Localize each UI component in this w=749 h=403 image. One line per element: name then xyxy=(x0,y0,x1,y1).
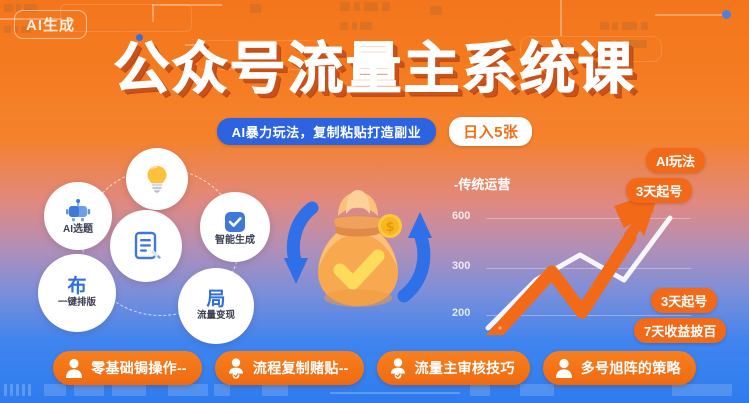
feature-button-matrix-strategy[interactable]: 多号旭阵的策略 xyxy=(543,351,696,385)
diagram-node-label: AI选题 xyxy=(63,224,93,235)
document-pen-icon xyxy=(128,228,164,264)
feature-button-label: 流程复制赌贴-- xyxy=(253,358,349,378)
subtitle-pill: AI暴力玩法，复制粘贴打造副业 xyxy=(217,118,437,145)
diagram-node-idea xyxy=(126,148,188,210)
page-title: 公众号流量主系统课 xyxy=(0,42,749,98)
diagram-node-label: 智能生成 xyxy=(215,235,255,246)
chart-annotation-ai-method: AI玩法 xyxy=(646,148,705,173)
diagram-node-ai-topic: AI选题 xyxy=(44,182,112,250)
chart-annotation-3day-bottom: 3天起号 xyxy=(651,288,717,313)
feature-button-label: 零基础锔操作-- xyxy=(91,358,187,378)
chart-line-ai xyxy=(490,238,630,335)
diagram-node-smart-generate: 智能生成 xyxy=(200,192,270,262)
diagram-node-big-char: 布 xyxy=(67,277,86,296)
highlight-pill: 日入5张 xyxy=(449,117,532,146)
ai-chip-icon xyxy=(65,198,91,224)
subtitle-row: AI暴力玩法，复制粘贴打造副业 日入5张 xyxy=(0,117,749,146)
feature-button-label: 多号旭阵的策略 xyxy=(581,358,681,378)
workflow-diagram: AI选题 智能生成 布 一键排版 xyxy=(38,148,288,333)
diagram-node-layout: 布 一键排版 xyxy=(38,254,116,332)
money-bag-check-icon: $ xyxy=(278,176,438,326)
feature-button-row: 零基础锔操作-- 流程复制赌贴-- 流量主审核技巧 xyxy=(0,351,749,385)
promo-banner: AI生成 公众号流量主系统课 AI暴力玩法，复制粘贴打造副业 日入5张 xyxy=(0,0,749,403)
user-icon xyxy=(64,357,84,379)
ai-generated-badge: AI生成 xyxy=(14,10,87,39)
growth-chart: -传统运营 600 300 200 AI玩法 3天起号 3天起号 7天收益披百 xyxy=(448,160,744,335)
check-square-icon xyxy=(222,209,248,235)
feature-button-label: 流量主审核技巧 xyxy=(415,358,515,378)
chart-annotation-3day-top: 3天起号 xyxy=(626,178,692,203)
diagram-node-document xyxy=(110,210,182,282)
diagram-node-big-char: 局 xyxy=(206,290,225,309)
diagram-node-label: 一键排版 xyxy=(58,297,96,308)
feature-button-zero-basis[interactable]: 零基础锔操作-- xyxy=(53,351,202,385)
money-bag-illustration: $ xyxy=(278,176,438,326)
diagram-node-monetize: 局 流量变现 xyxy=(178,268,254,344)
user-check-icon xyxy=(226,357,246,379)
user-check-icon xyxy=(388,357,408,379)
user-icon xyxy=(554,357,574,379)
feature-button-process-copy[interactable]: 流程复制赌贴-- xyxy=(215,351,364,385)
feature-button-audit-tips[interactable]: 流量主审核技巧 xyxy=(377,351,530,385)
lightbulb-icon xyxy=(140,162,174,196)
svg-text:$: $ xyxy=(385,220,394,235)
diagram-node-label: 流量变现 xyxy=(197,310,235,321)
chart-annotation-7day-income: 7天收益披百 xyxy=(634,318,726,343)
